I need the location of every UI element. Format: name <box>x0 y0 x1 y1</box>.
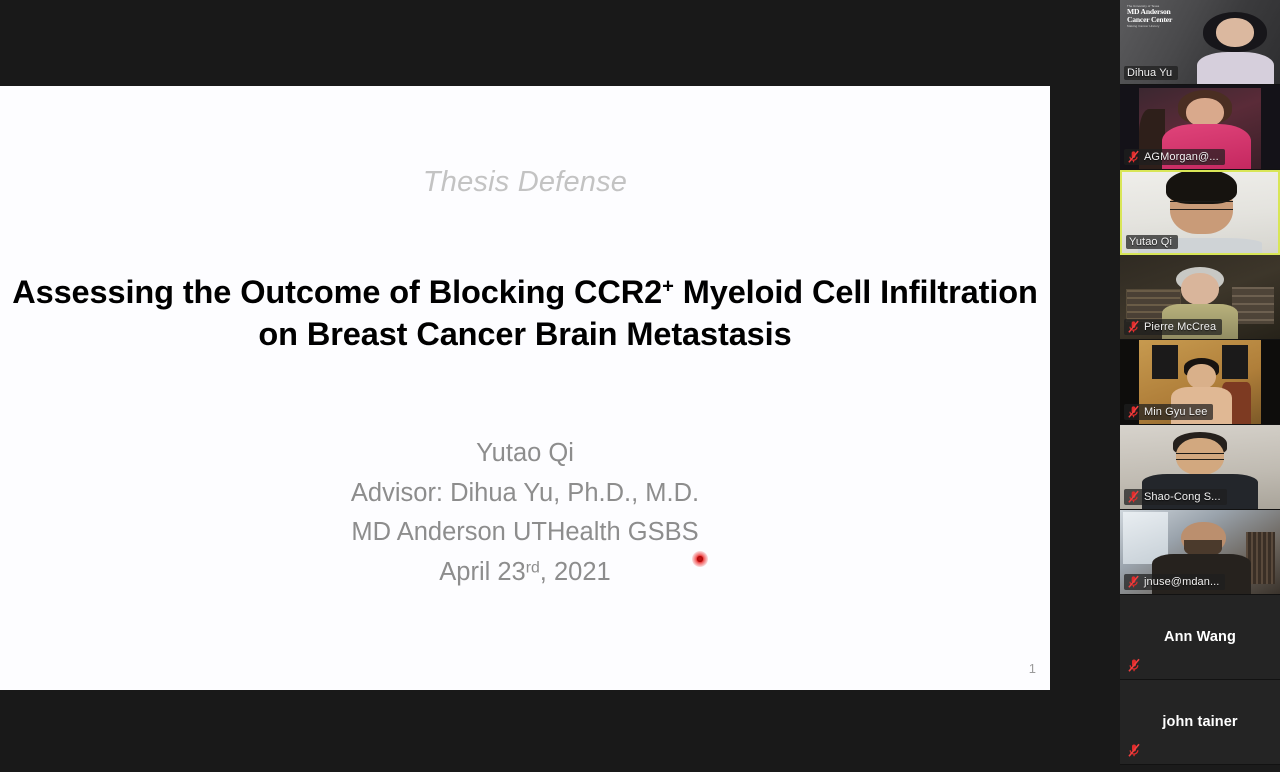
participant-tile-john-tainer[interactable]: john tainer <box>1120 680 1280 765</box>
participant-name: Yutao Qi <box>1129 236 1172 248</box>
participant-name: Min Gyu Lee <box>1144 406 1207 418</box>
participant-name-label: Yutao Qi <box>1126 235 1178 249</box>
muted-microphone-icon <box>1127 575 1140 589</box>
slide-title: Assessing the Outcome of Blocking CCR2+ … <box>8 272 1042 355</box>
participant-name: john tainer <box>1162 714 1237 730</box>
participant-tile-ann-wang[interactable]: Ann Wang <box>1120 595 1280 680</box>
byline-advisor: Advisor: Dihua Yu, Ph.D., M.D. <box>0 474 1050 514</box>
presentation-slide[interactable]: Thesis Defense Assessing the Outcome of … <box>0 86 1050 690</box>
zoom-meeting-window: Thesis Defense Assessing the Outcome of … <box>0 0 1280 772</box>
participant-name-label: AGMorgan@... <box>1124 149 1225 165</box>
participant-name-label: Min Gyu Lee <box>1124 404 1213 420</box>
byline-presenter: Yutao Qi <box>0 434 1050 474</box>
logo-line-3: Cancer Center <box>1127 16 1181 24</box>
participant-name: Ann Wang <box>1164 629 1236 645</box>
participant-tile-agmorgan[interactable]: AGMorgan@... <box>1120 85 1280 170</box>
muted-microphone-icon <box>1127 320 1140 334</box>
shared-screen-region[interactable]: Thesis Defense Assessing the Outcome of … <box>0 0 1120 772</box>
participant-name: Shao-Cong S... <box>1144 491 1221 503</box>
slide-page-number: 1 <box>1029 661 1036 676</box>
participant-tile-min-gyu-lee[interactable]: Min Gyu Lee <box>1120 340 1280 425</box>
byline-date: April 23rd, 2021 <box>0 553 1050 593</box>
byline-date-suffix: , 2021 <box>540 558 611 586</box>
participant-tile-yutao-qi[interactable]: Yutao Qi <box>1120 170 1280 255</box>
muted-microphone-icon <box>1127 743 1141 758</box>
participant-name-label: Dihua Yu <box>1124 66 1178 80</box>
participant-name-label: Pierre McCrea <box>1124 319 1222 335</box>
slide-eyebrow: Thesis Defense <box>0 166 1050 199</box>
slide-title-part-2: Myeloid Cell Infiltration <box>674 274 1038 310</box>
participant-name-label: jnuse@mdan... <box>1124 574 1225 590</box>
participant-tile-shao-cong[interactable]: Shao-Cong S... <box>1120 425 1280 510</box>
md-anderson-logo-icon: The University of Texas MD Anderson Canc… <box>1127 5 1181 28</box>
muted-microphone-icon <box>1127 658 1141 673</box>
slide-title-line-2: on Breast Cancer Brain Metastasis <box>258 316 791 352</box>
byline-date-prefix: April 23 <box>439 558 525 586</box>
byline-date-ordinal: rd <box>526 560 540 577</box>
participant-name: jnuse@mdan... <box>1144 576 1219 588</box>
slide-title-part-1: Assessing the Outcome of Blocking CCR2 <box>12 274 662 310</box>
muted-microphone-icon <box>1127 405 1140 419</box>
participant-tile-jnuse[interactable]: jnuse@mdan... <box>1120 510 1280 595</box>
slide-title-superscript: + <box>662 276 674 298</box>
byline-institution: MD Anderson UTHealth GSBS <box>0 513 1050 553</box>
participant-name: Dihua Yu <box>1127 67 1172 79</box>
participant-name-label: Shao-Cong S... <box>1124 489 1227 505</box>
participant-name: Pierre McCrea <box>1144 321 1216 333</box>
participant-tile-pierre-mccrea[interactable]: Pierre McCrea <box>1120 255 1280 340</box>
slide-byline: Yutao Qi Advisor: Dihua Yu, Ph.D., M.D. … <box>0 434 1050 593</box>
muted-microphone-icon <box>1127 490 1140 504</box>
muted-microphone-icon <box>1127 150 1140 164</box>
participant-filmstrip[interactable]: The University of Texas MD Anderson Canc… <box>1120 0 1280 772</box>
participant-tile-dihua-yu[interactable]: The University of Texas MD Anderson Canc… <box>1120 0 1280 85</box>
logo-tagline: Making Cancer History <box>1127 25 1181 28</box>
participant-name: AGMorgan@... <box>1144 151 1219 163</box>
